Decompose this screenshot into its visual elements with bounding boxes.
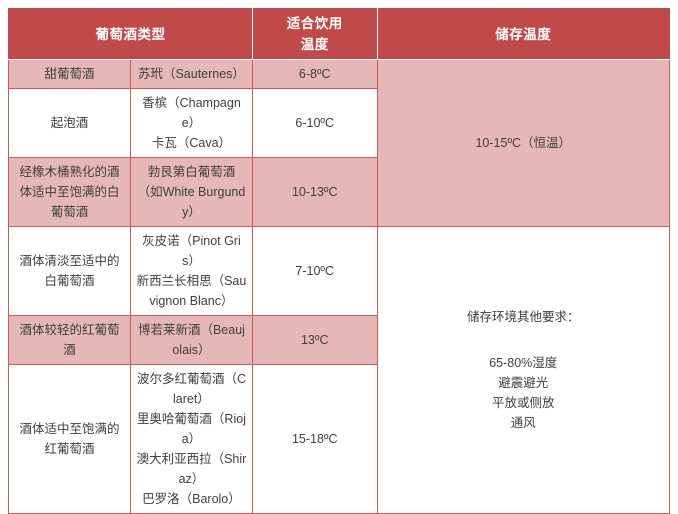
cell-wine-type: 酒体较轻的红葡萄酒	[9, 316, 131, 365]
column-header-storage-temperature: 储存温度	[377, 9, 669, 60]
column-header-drinking-temperature: 适合饮用 温度	[252, 9, 377, 60]
example-item: 博若莱新酒（Beaujolais）	[136, 320, 247, 360]
storage-note-item: 通风	[387, 413, 660, 433]
cell-wine-examples: 勃艮第白葡萄酒（如White Burgundy）	[130, 158, 252, 227]
example-item: 巴罗洛（Barolo）	[136, 489, 247, 509]
drinking-temp-header-line-1: 适合饮用	[258, 13, 372, 34]
example-item: 勃艮第白葡萄酒（如White Burgundy）	[136, 162, 247, 222]
cell-wine-type: 酒体清淡至适中的白葡萄酒	[9, 227, 131, 316]
table-header: 葡萄酒类型 适合饮用 温度 储存温度	[9, 9, 670, 60]
drinking-temp-header-line-2: 温度	[258, 34, 372, 55]
cell-drinking-temperature: 15-18ºC	[252, 365, 377, 514]
example-item: 波尔多红葡萄酒（Claret）	[136, 369, 247, 409]
storage-notes-title: 储存环境其他要求：	[387, 307, 660, 327]
cell-wine-type: 经橡木桶熟化的酒体适中至饱满的白葡萄酒	[9, 158, 131, 227]
cell-wine-examples: 苏玳（Sauternes）	[130, 60, 252, 89]
cell-drinking-temperature: 6-10ºC	[252, 89, 377, 158]
example-item: 香槟（Champagne）	[136, 93, 247, 133]
cell-wine-examples: 波尔多红葡萄酒（Claret） 里奥哈葡萄酒（Rioja） 澳大利亚西拉（Shi…	[130, 365, 252, 514]
cell-wine-examples: 香槟（Champagne） 卡瓦（Cava）	[130, 89, 252, 158]
example-item: 苏玳（Sauternes）	[136, 64, 247, 84]
storage-note-item: 平放或侧放	[387, 393, 660, 413]
example-item: 里奥哈葡萄酒（Rioja）	[136, 409, 247, 449]
cell-drinking-temperature: 6-8ºC	[252, 60, 377, 89]
cell-drinking-temperature: 13ºC	[252, 316, 377, 365]
wine-temperature-table-container: 葡萄酒类型 适合饮用 温度 储存温度 甜葡萄酒 苏玳（Sauternes） 6-…	[0, 0, 678, 514]
cell-wine-examples: 博若莱新酒（Beaujolais）	[130, 316, 252, 365]
example-item: 新西兰长相思（Sauvignon Blanc）	[136, 271, 247, 311]
column-header-wine-type: 葡萄酒类型	[9, 9, 253, 60]
table-row: 甜葡萄酒 苏玳（Sauternes） 6-8ºC 10-15ºC（恒温）	[9, 60, 670, 89]
storage-note-item: 65-80%湿度	[387, 353, 660, 373]
cell-wine-type: 酒体适中至饱满的红葡萄酒	[9, 365, 131, 514]
storage-note-item: 避震避光	[387, 373, 660, 393]
cell-storage-temperature: 10-15ºC（恒温）	[377, 60, 669, 227]
cell-drinking-temperature: 7-10ºC	[252, 227, 377, 316]
cell-storage-notes: 储存环境其他要求： 65-80%湿度 避震避光 平放或侧放 通风	[377, 227, 669, 514]
cell-wine-type: 甜葡萄酒	[9, 60, 131, 89]
example-item: 澳大利亚西拉（Shiraz）	[136, 449, 247, 489]
example-item: 卡瓦（Cava）	[136, 133, 247, 153]
wine-temperature-table: 葡萄酒类型 适合饮用 温度 储存温度 甜葡萄酒 苏玳（Sauternes） 6-…	[8, 8, 670, 514]
cell-drinking-temperature: 10-13ºC	[252, 158, 377, 227]
table-body: 甜葡萄酒 苏玳（Sauternes） 6-8ºC 10-15ºC（恒温） 起泡酒…	[9, 60, 670, 514]
cell-wine-type: 起泡酒	[9, 89, 131, 158]
table-header-row: 葡萄酒类型 适合饮用 温度 储存温度	[9, 9, 670, 60]
storage-notes-block: 储存环境其他要求： 65-80%湿度 避震避光 平放或侧放 通风	[383, 301, 664, 439]
cell-wine-examples: 灰皮诺（Pinot Gris） 新西兰长相思（Sauvignon Blanc）	[130, 227, 252, 316]
table-row: 酒体清淡至适中的白葡萄酒 灰皮诺（Pinot Gris） 新西兰长相思（Sauv…	[9, 227, 670, 316]
example-item: 灰皮诺（Pinot Gris）	[136, 231, 247, 271]
